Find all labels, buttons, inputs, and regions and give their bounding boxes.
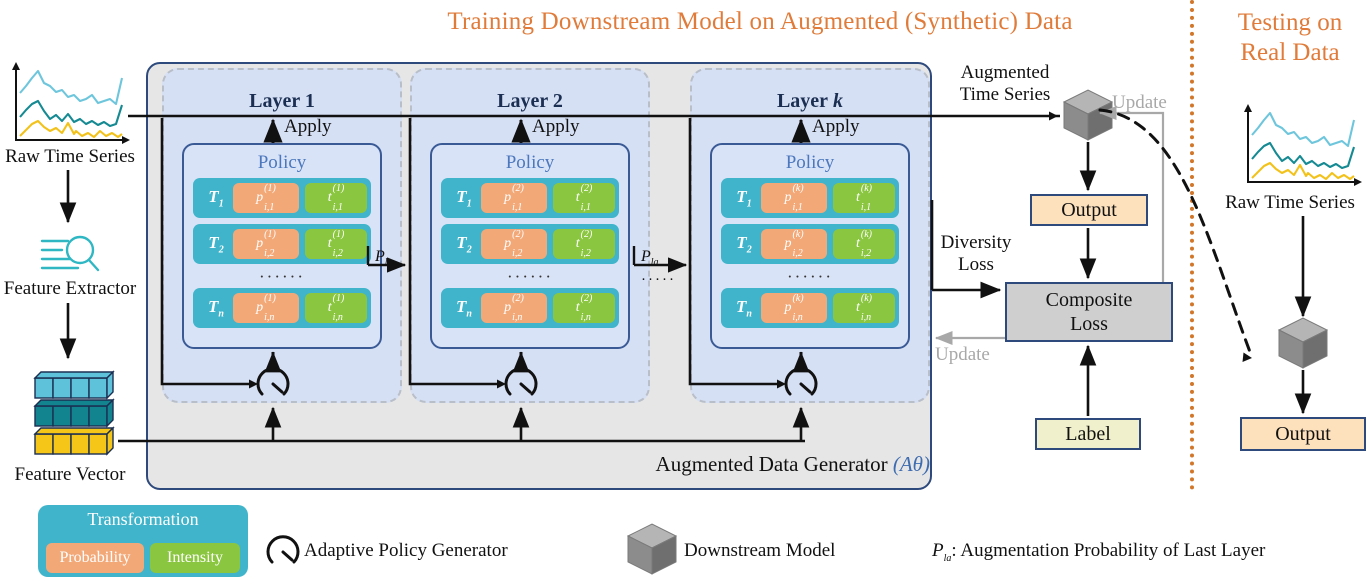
feature-extractor-icon: [42, 237, 98, 270]
adaptive-policy-generator-icon-k: [786, 369, 816, 394]
raw-time-series-chart-right: [1244, 104, 1362, 186]
model-transfer-curve: [1100, 110, 1250, 352]
arrow-series-into-layer2: [410, 118, 503, 384]
arrow-series-into-layer1: [162, 118, 255, 384]
adaptive-policy-generator-icon-2: [506, 369, 536, 394]
arrow-series-into-layerk: [690, 118, 783, 384]
diagram-overlay: [0, 0, 1368, 585]
downstream-model-cube-testing: [1279, 318, 1327, 368]
legend-downstream-model-icon: [628, 524, 676, 574]
legend-adaptive-policy-generator-icon: [268, 537, 298, 562]
downstream-model-cube-training: [1064, 90, 1112, 140]
adaptive-policy-generator-icon-1: [258, 369, 288, 394]
raw-time-series-chart-left: [12, 62, 130, 144]
feature-vector-icon: [35, 372, 113, 454]
